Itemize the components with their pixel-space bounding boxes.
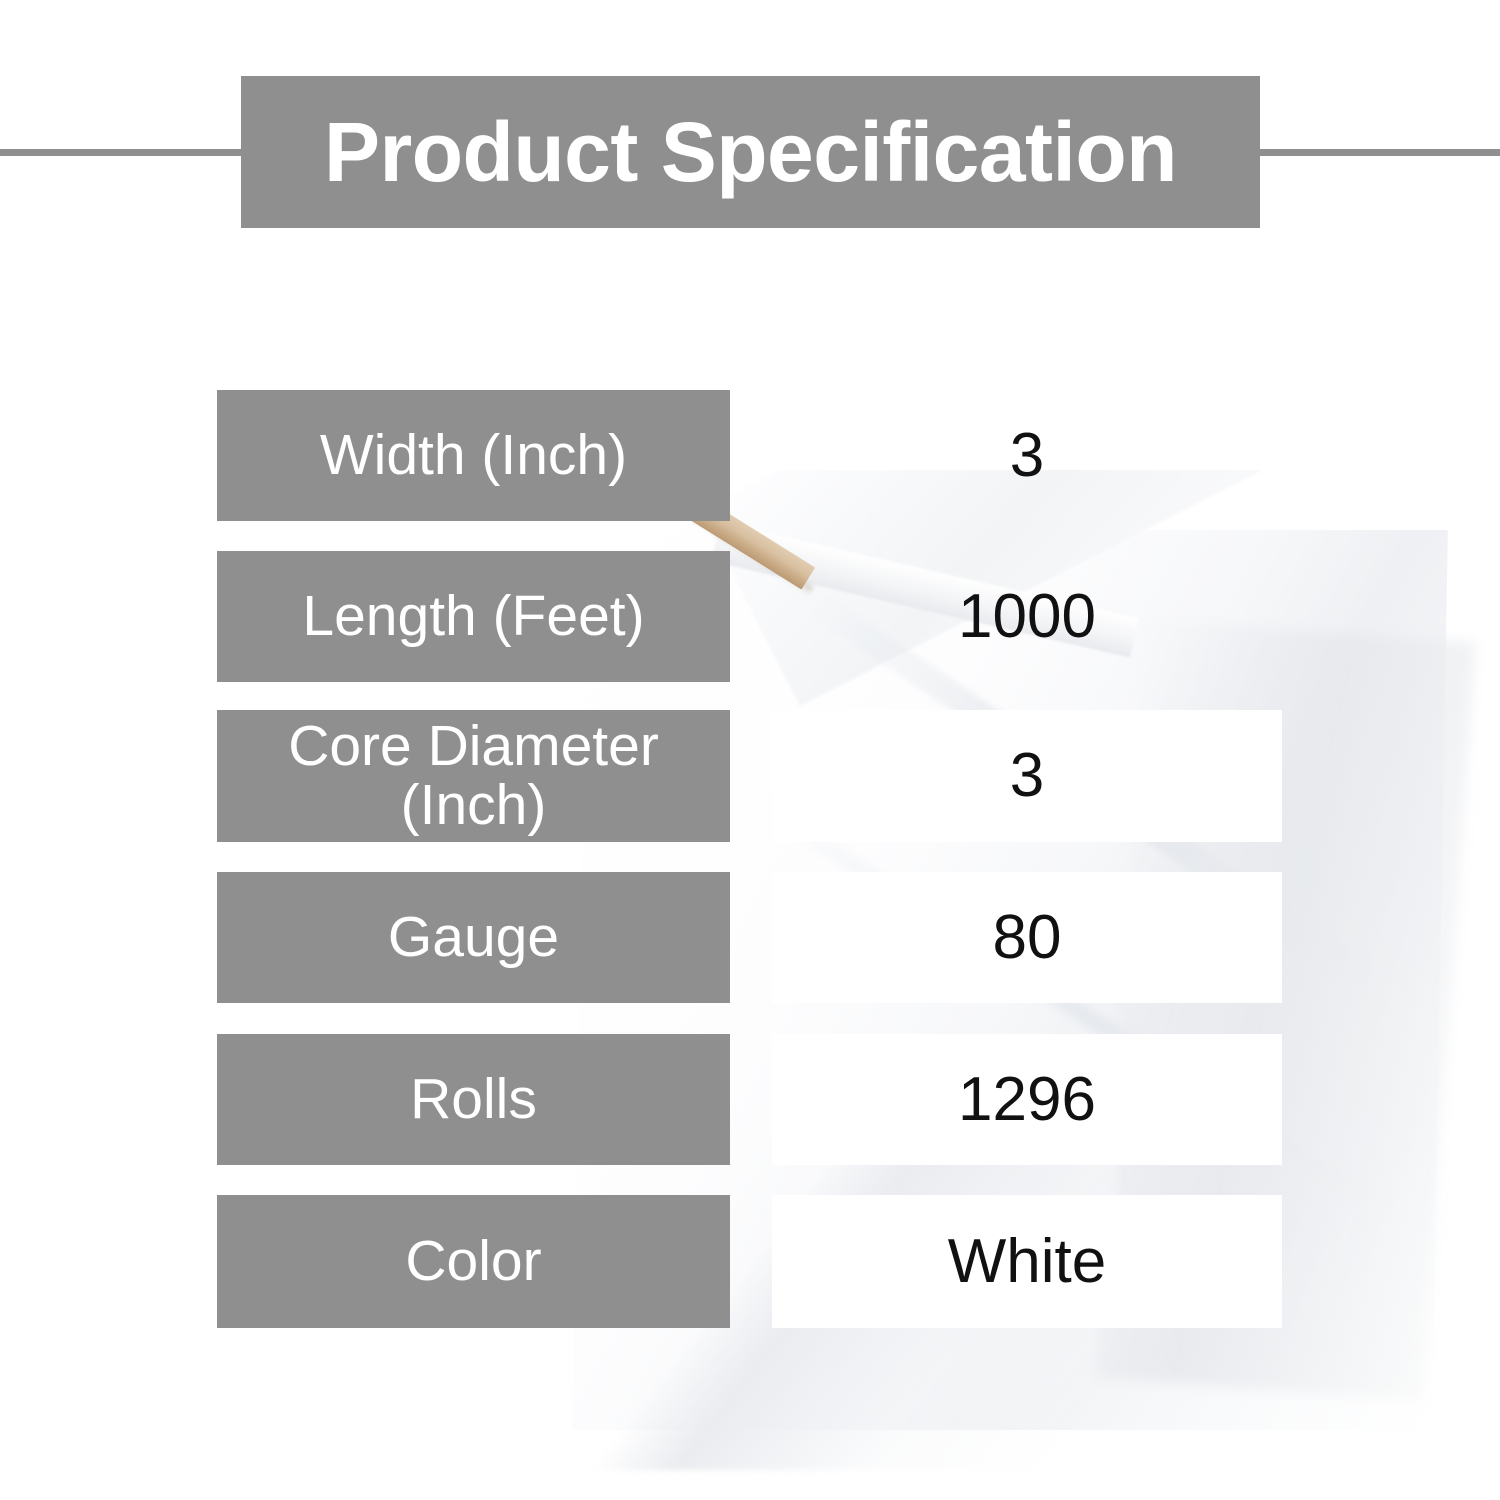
- spec-value-color: White: [772, 1195, 1282, 1328]
- spec-value-core-diameter: 3: [772, 710, 1282, 842]
- spec-label-width: Width (Inch): [217, 390, 730, 521]
- spec-value-rolls: 1296: [772, 1034, 1282, 1165]
- specification-table: Width (Inch) 3 Length (Feet) 1000 Core D…: [0, 0, 1500, 1500]
- product-specification-page: Product Specification Width (Inch) 3 Len…: [0, 0, 1500, 1500]
- table-row: Rolls 1296: [0, 1034, 1500, 1165]
- spec-value-length: 1000: [772, 551, 1282, 682]
- spec-label-length: Length (Feet): [217, 551, 730, 682]
- spec-label-color: Color: [217, 1195, 730, 1328]
- table-row: Gauge 80: [0, 872, 1500, 1003]
- spec-label-rolls: Rolls: [217, 1034, 730, 1165]
- spec-value-gauge: 80: [772, 872, 1282, 1003]
- table-row: Core Diameter (Inch) 3: [0, 710, 1500, 842]
- table-row: Length (Feet) 1000: [0, 551, 1500, 682]
- table-row: Width (Inch) 3: [0, 390, 1500, 521]
- spec-value-width: 3: [772, 390, 1282, 521]
- table-row: Color White: [0, 1195, 1500, 1328]
- spec-label-core-diameter: Core Diameter (Inch): [217, 710, 730, 842]
- spec-label-gauge: Gauge: [217, 872, 730, 1003]
